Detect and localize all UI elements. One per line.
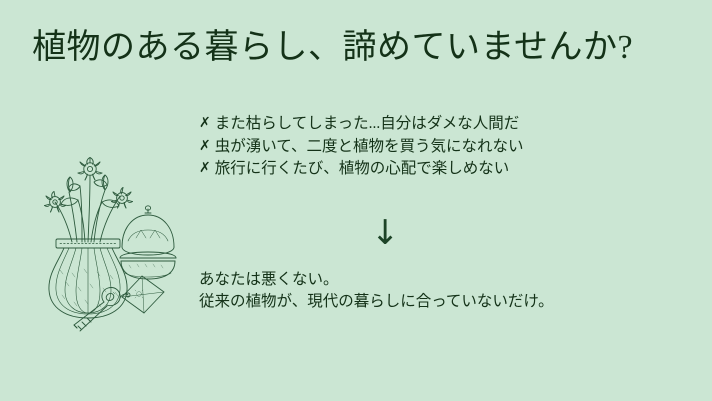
- transition-row: ↓: [199, 210, 669, 256]
- cross-icon: ✗: [199, 157, 211, 180]
- pain-point-text: 虫が湧いて、二度と植物を買う気になれない: [215, 138, 524, 155]
- conclusion-line-2: 従来の植物が、現代の暮らしに合っていないだけ。: [199, 291, 669, 314]
- service-bell-icon: [120, 206, 176, 279]
- conclusion-line-1: あなたは悪くない。: [199, 269, 669, 292]
- slide-canvas: 植物のある暮らし、諦めていませんか?: [0, 0, 712, 401]
- list-item: ✗旅行に行くたび、植物の心配で楽しめない: [199, 158, 669, 181]
- list-item: ✗また枯らしてしまった...自分はダメな人間だ: [199, 113, 669, 136]
- page-title: 植物のある暮らし、諦めていませんか?: [32, 27, 633, 70]
- vintage-engraving-illustration: [22, 142, 182, 342]
- down-arrow-icon: ↓: [371, 210, 400, 256]
- list-item: ✗虫が湧いて、二度と植物を買う気になれない: [199, 136, 669, 159]
- pain-point-text: また枯らしてしまった...自分はダメな人間だ: [215, 115, 520, 132]
- pain-point-text: 旅行に行くたび、植物の心配で楽しめない: [215, 160, 510, 177]
- flower-bouquet-icon: [45, 158, 133, 243]
- cross-icon: ✗: [199, 112, 211, 135]
- conclusion-block: あなたは悪くない。 従来の植物が、現代の暮らしに合っていないだけ。: [199, 269, 669, 314]
- cross-icon: ✗: [199, 135, 211, 158]
- flower-vase-icon: [49, 239, 127, 318]
- content-column: ✗また枯らしてしまった...自分はダメな人間だ ✗虫が湧いて、二度と植物を買う気…: [199, 113, 669, 314]
- pain-point-list: ✗また枯らしてしまった...自分はダメな人間だ ✗虫が湧いて、二度と植物を買う気…: [199, 113, 669, 181]
